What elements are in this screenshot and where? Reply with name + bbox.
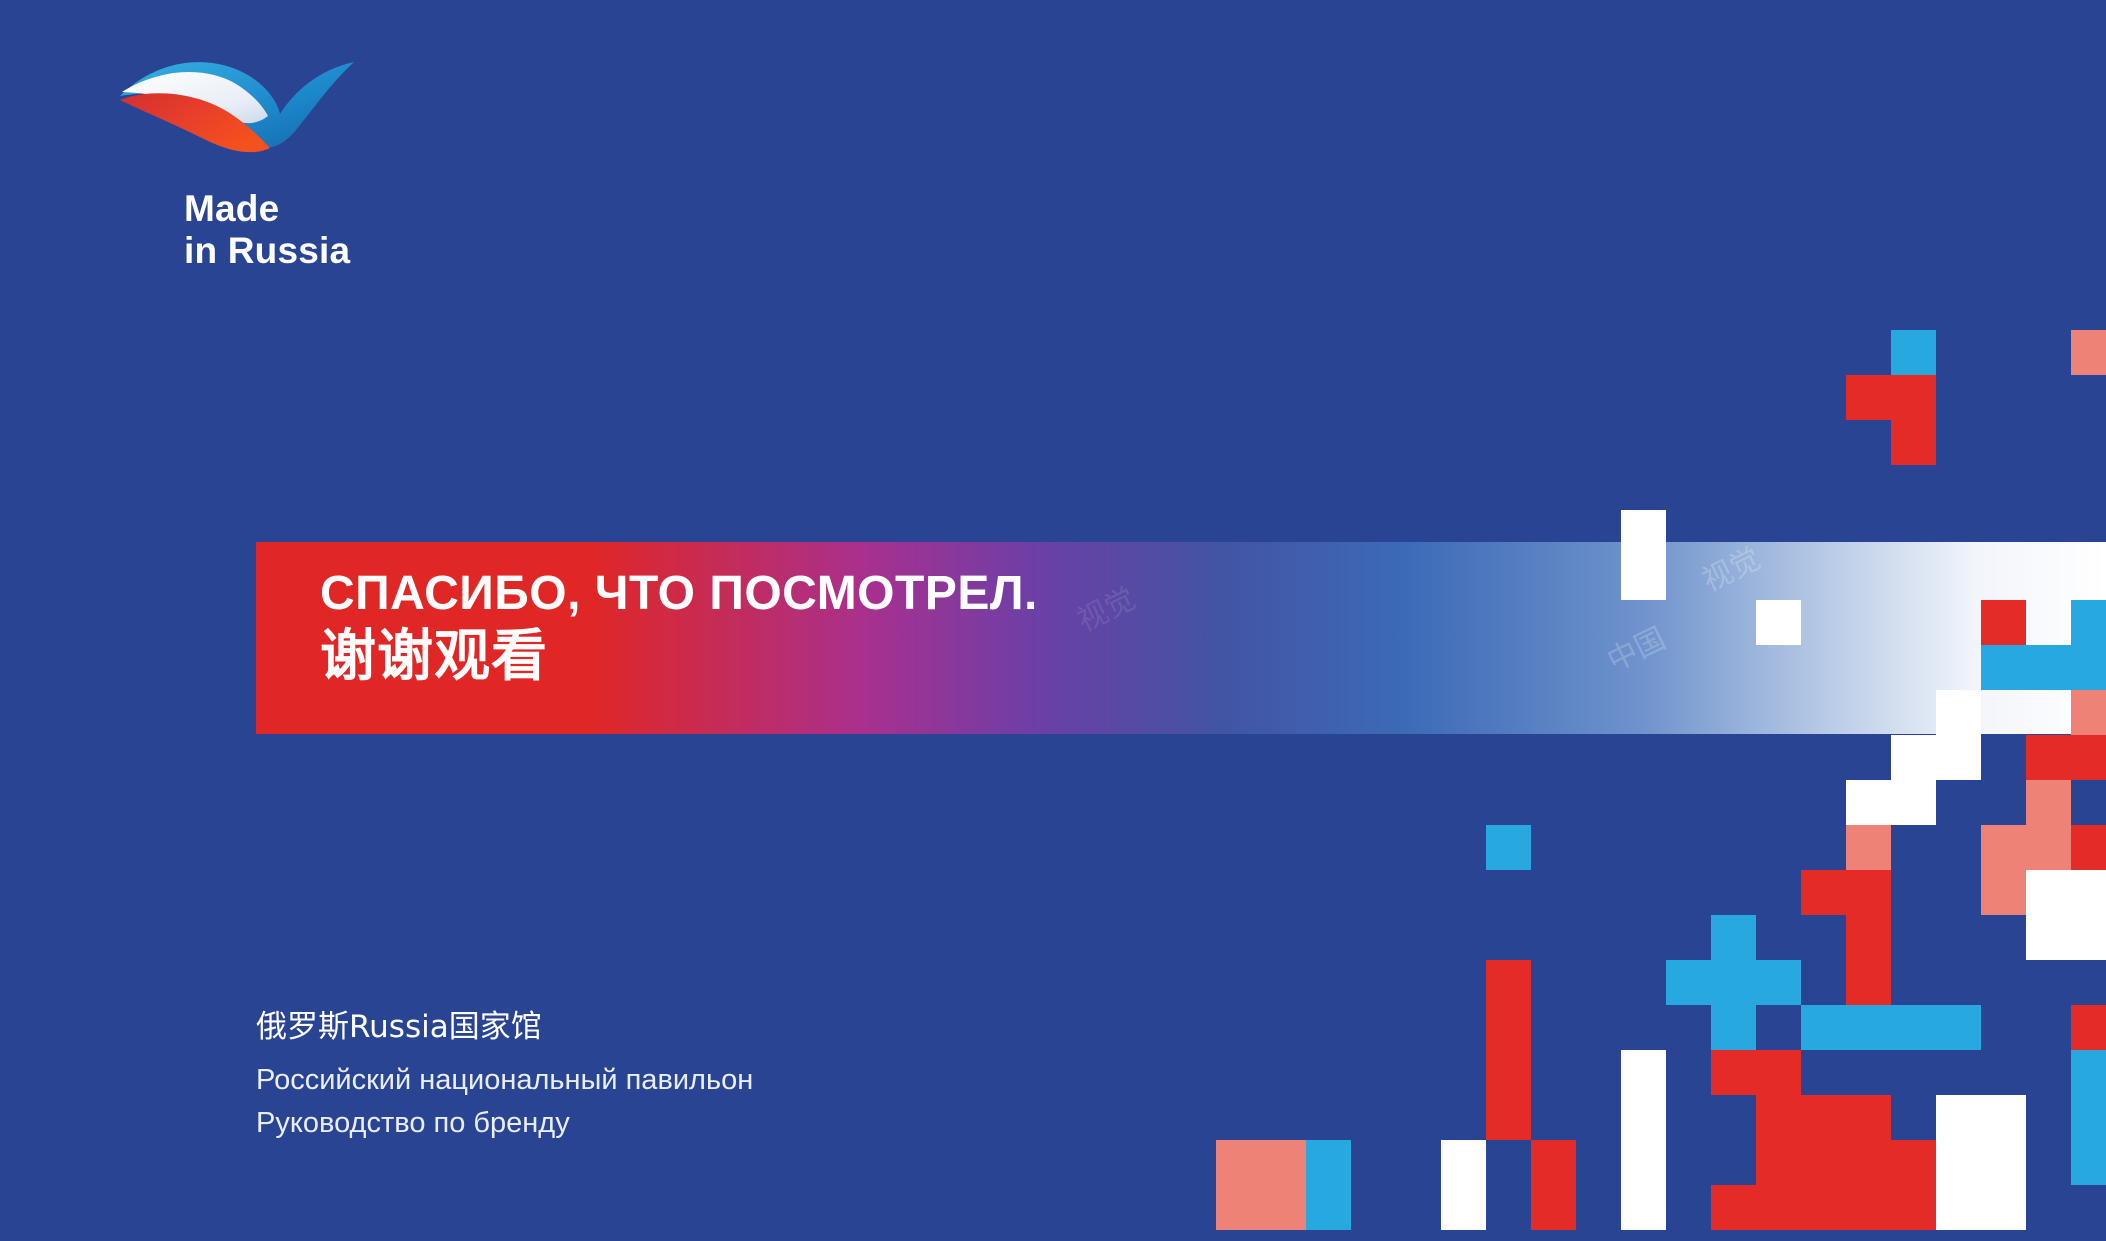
mosaic-tile — [1846, 780, 1936, 825]
mosaic-tile — [1756, 1095, 1891, 1140]
mosaic-tile — [1306, 1140, 1351, 1230]
mosaic-tile — [2071, 600, 2106, 690]
mosaic-tile — [1756, 600, 1801, 645]
mosaic-tile — [1801, 1005, 1981, 1050]
mosaic-tile — [1981, 645, 2071, 690]
mosaic-tile — [2071, 870, 2106, 960]
mosaic-tile — [1621, 1050, 1666, 1140]
mosaic-tile — [1486, 960, 1531, 1140]
mosaic-tile — [1891, 330, 1936, 375]
mosaic-tile — [1711, 1185, 1756, 1230]
footer-russian-line1: Российский национальный павильон — [256, 1059, 753, 1102]
mosaic-tile — [1891, 735, 1981, 780]
banner-headline-russian: СПАСИБО, ЧТО ПОСМОТРЕЛ. — [320, 566, 1038, 622]
slide-canvas: Made in Russia СПАСИБО, ЧТО ПОСМОТРЕЛ. 谢… — [0, 0, 2106, 1241]
mosaic-tile — [1531, 1140, 1576, 1230]
footer-text-group: 俄罗斯Russia国家馆 Российский национальный пав… — [256, 1005, 753, 1145]
mosaic-tile — [1666, 1140, 1711, 1230]
mosaic-tile — [2071, 825, 2106, 870]
mosaic-tile — [1666, 960, 1801, 1005]
mosaic-tile — [2071, 690, 2106, 735]
mosaic-tile — [1621, 1140, 1666, 1230]
mosaic-tile — [2026, 735, 2106, 780]
mosaic-tile — [2026, 780, 2071, 870]
banner-text-group: СПАСИБО, ЧТО ПОСМОТРЕЛ. 谢谢观看 — [320, 566, 1038, 692]
mosaic-tile — [1441, 1140, 1486, 1230]
mosaic-tile — [2026, 870, 2071, 960]
mosaic-tile — [1891, 420, 1936, 465]
mosaic-tile — [1711, 1050, 1801, 1095]
footer-chinese-title: 俄罗斯Russia国家馆 — [256, 1005, 753, 1049]
mosaic-tile — [1756, 1140, 1936, 1230]
mosaic-tile — [2071, 1050, 2106, 1185]
mosaic-tile — [1486, 825, 1531, 870]
banner-headline-chinese: 谢谢观看 — [320, 622, 1038, 692]
pixel-mosaic-decoration — [1126, 330, 2106, 1241]
mosaic-tile — [1846, 915, 1891, 1005]
mosaic-tile — [1846, 825, 1891, 870]
logo-line-in-russia: in Russia — [184, 230, 448, 272]
footer-russian-block: Российский национальный павильон Руковод… — [256, 1059, 753, 1145]
mosaic-tile — [1846, 375, 1936, 420]
mosaic-tile — [1216, 1140, 1306, 1230]
made-in-russia-logo: Made in Russia — [118, 52, 448, 272]
mosaic-tile — [2071, 1005, 2106, 1050]
logo-wordmark: Made in Russia — [184, 188, 448, 272]
mosaic-tile — [1981, 825, 2026, 915]
mosaic-tile — [1936, 690, 1981, 735]
footer-russian-line2: Руководство по бренду — [256, 1102, 753, 1145]
mosaic-tile — [1621, 510, 1666, 600]
mosaic-tile — [1936, 1185, 2026, 1230]
mosaic-tile — [1936, 1095, 2026, 1185]
mosaic-tile — [1801, 870, 1891, 915]
mosaic-tile — [2071, 330, 2106, 375]
tricolor-bird-icon — [118, 52, 363, 162]
logo-line-made: Made — [184, 188, 448, 230]
